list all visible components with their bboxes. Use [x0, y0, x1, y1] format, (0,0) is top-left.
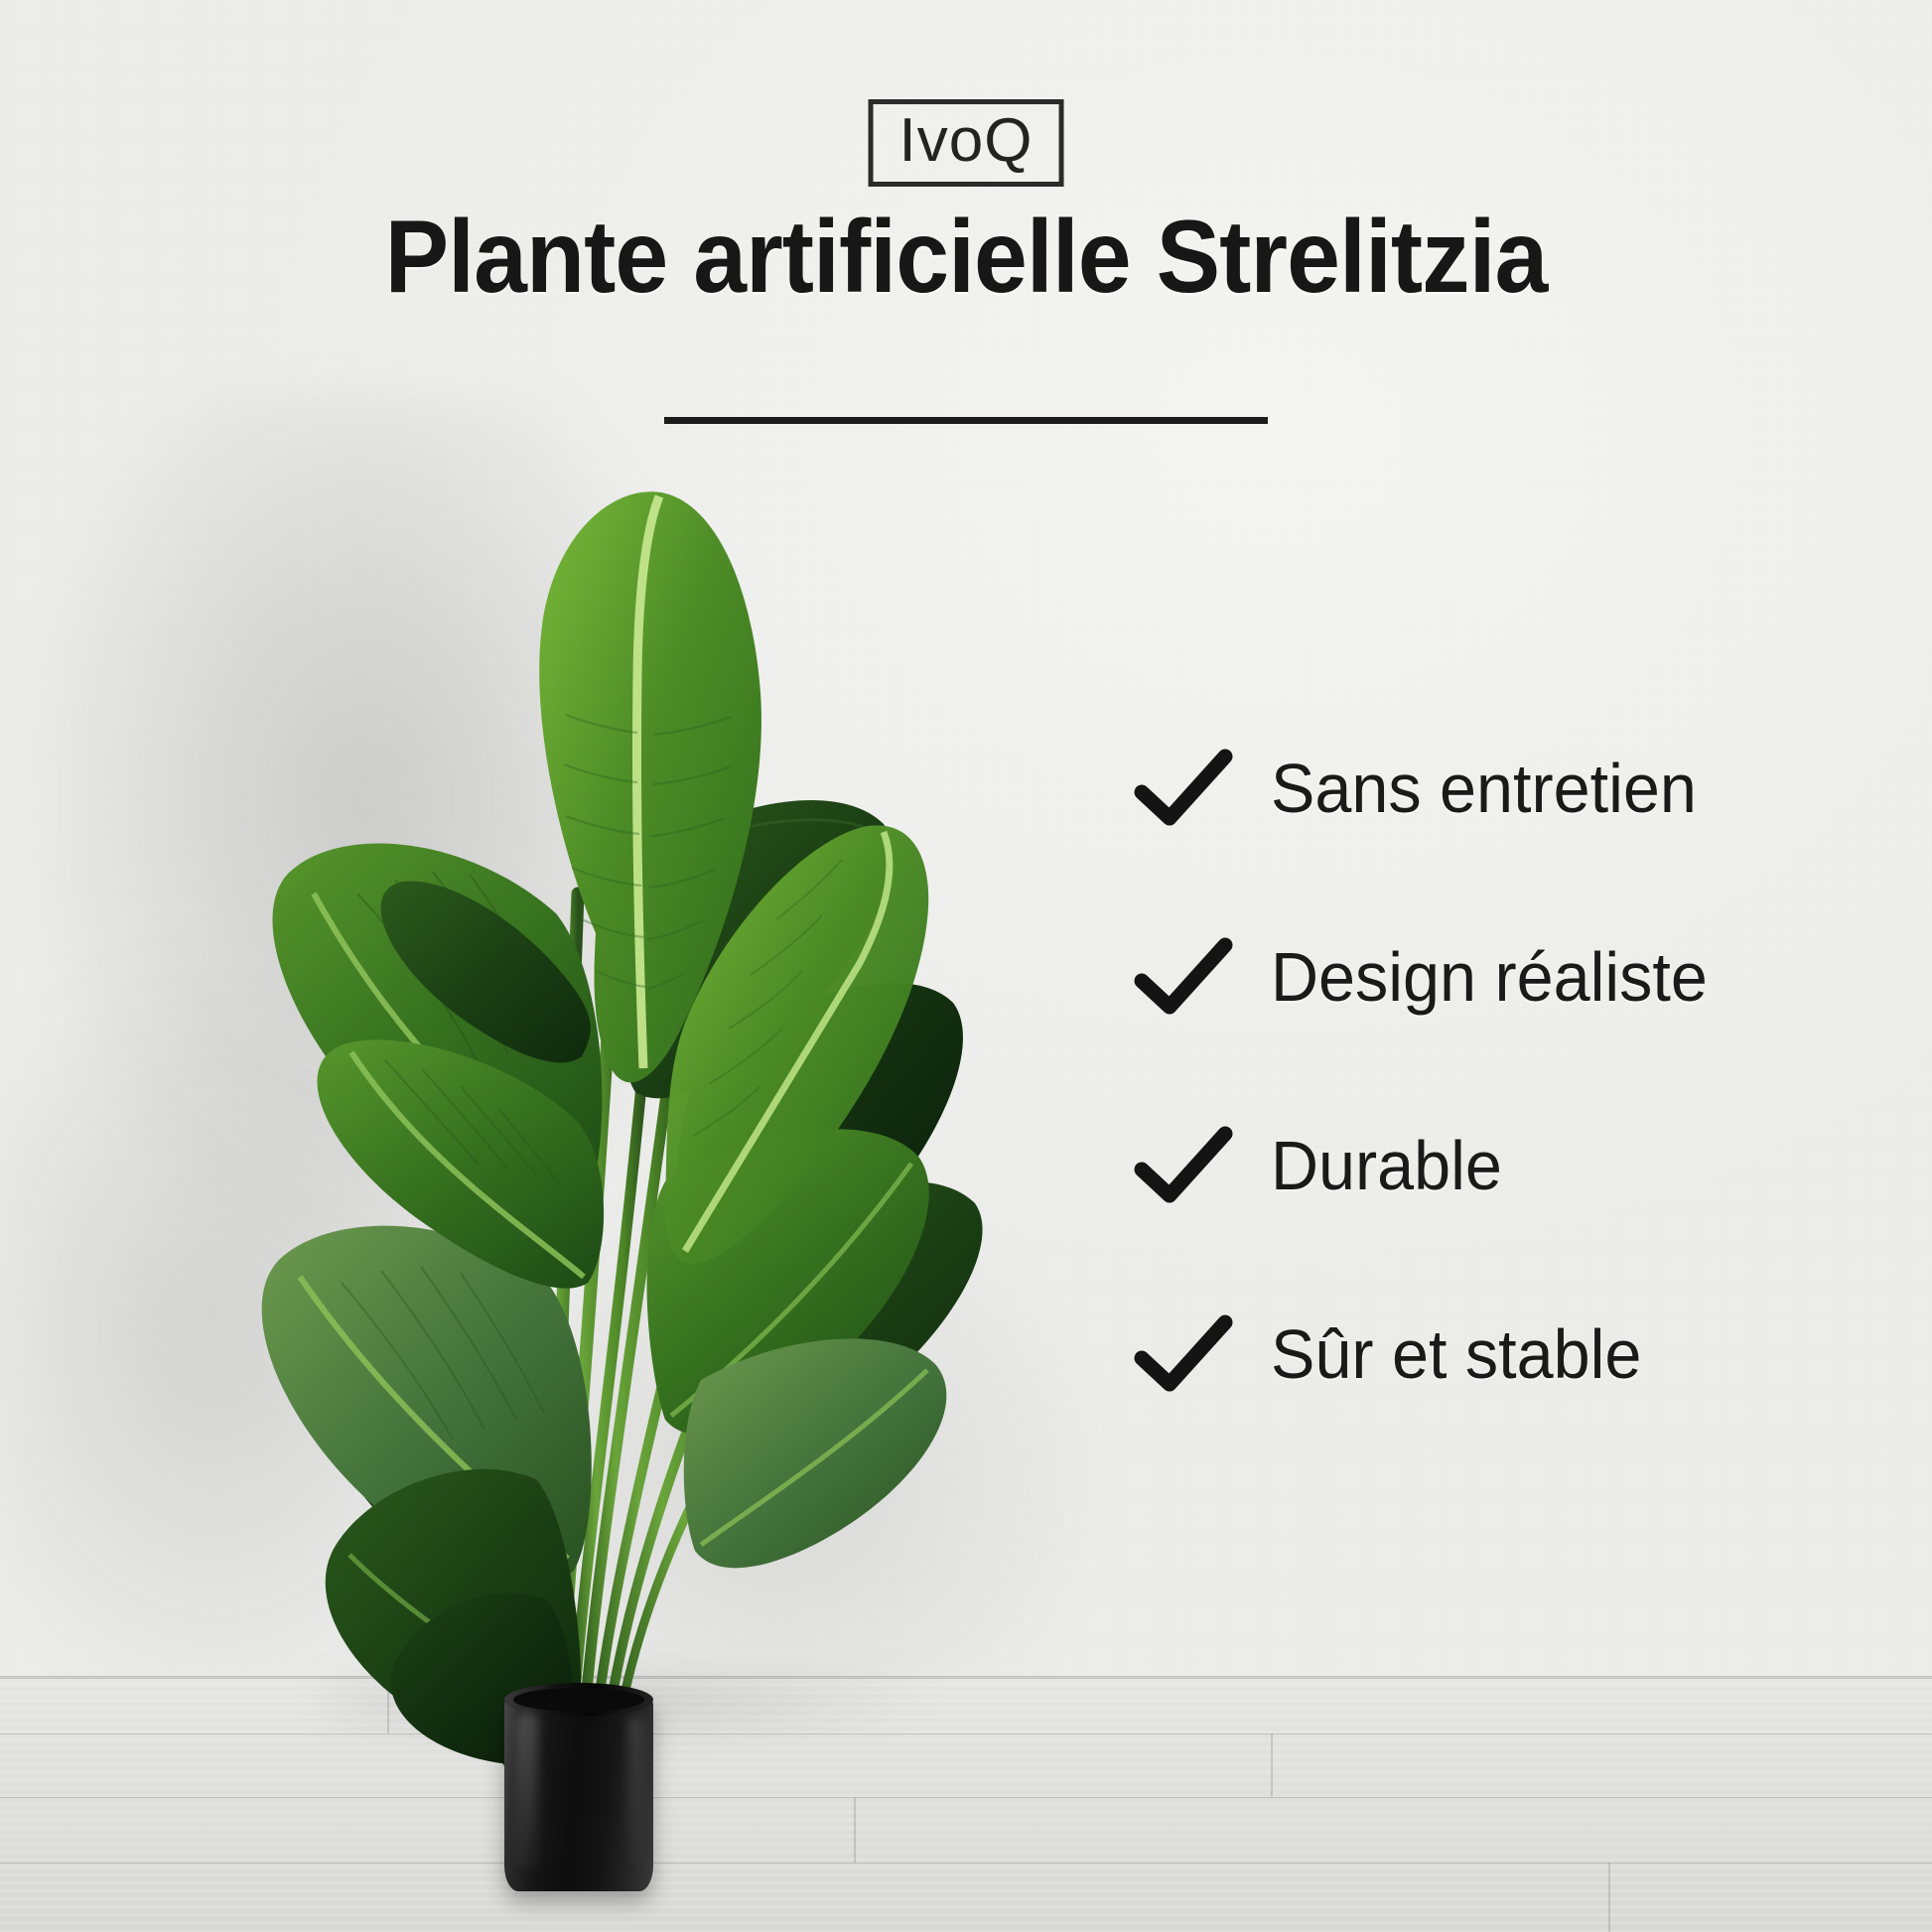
- feature-label: Durable: [1271, 1126, 1502, 1205]
- feature-list: Sans entretien Design réaliste Durable S…: [1132, 737, 1847, 1406]
- title-divider: [664, 417, 1268, 424]
- pot-highlight-right: [627, 1717, 643, 1865]
- product-image-plant: [129, 427, 1122, 1767]
- feature-item: Design réaliste: [1132, 925, 1847, 1029]
- feature-label: Sans entretien: [1271, 749, 1697, 828]
- page-title: Plante artificielle Strelitzia: [68, 199, 1864, 317]
- pot-highlight-left: [517, 1713, 539, 1871]
- check-icon: [1132, 1126, 1235, 1205]
- feature-item: Sûr et stable: [1132, 1303, 1847, 1406]
- plant-pot: [504, 1683, 653, 1896]
- leaf-front-4: [684, 1338, 947, 1568]
- feature-item: Durable: [1132, 1114, 1847, 1217]
- feature-label: Design réaliste: [1271, 937, 1708, 1017]
- product-banner: IvoQ Plante artificielle Strelitzia: [0, 0, 1932, 1932]
- pot-rim-inner: [513, 1688, 644, 1712]
- check-icon: [1132, 1314, 1235, 1394]
- check-icon: [1132, 937, 1235, 1017]
- check-icon: [1132, 749, 1235, 828]
- brand-logo-text: IvoQ: [899, 110, 1034, 172]
- feature-item: Sans entretien: [1132, 737, 1847, 840]
- brand-logo: IvoQ: [869, 99, 1064, 187]
- plant-illustration: [129, 427, 1122, 1767]
- feature-label: Sûr et stable: [1271, 1314, 1641, 1394]
